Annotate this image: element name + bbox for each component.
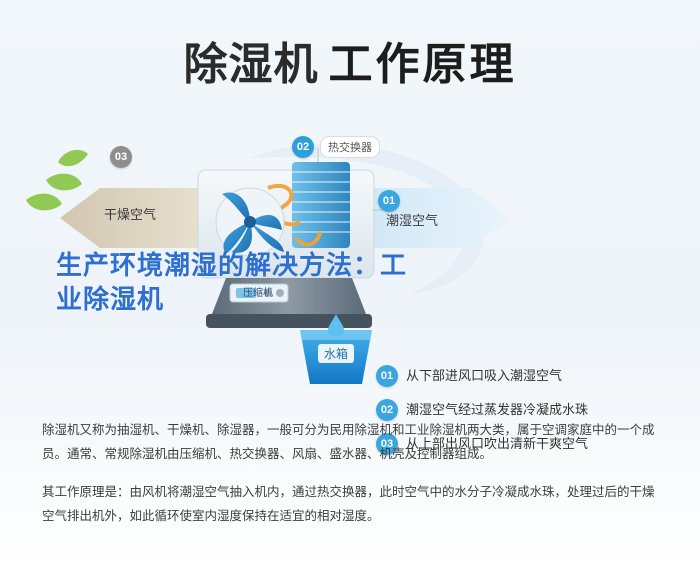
diagram-badge-02: 02 <box>292 136 314 158</box>
body-copy: 除湿机又称为抽湿机、干燥机、除湿器，一般可分为民用除湿机和工业除湿机两大类，属于… <box>42 418 658 528</box>
page-title-part2: 工作原理 <box>329 39 517 90</box>
page-title-part1: 除湿机 <box>184 39 319 90</box>
dehumidifier-diagram: 03 02 01 干燥空气 潮湿空气 热交换器 压缩机 水箱 01 从下部进风口… <box>0 118 700 398</box>
step-item: 01 从下部进风口吸入潮湿空气 <box>376 364 696 398</box>
diagram-badge-01: 01 <box>378 190 400 212</box>
page-root: 除湿机工作原理 <box>0 0 700 566</box>
body-paragraph-2: 其工作原理是：由风机将潮湿空气抽入机内，通过热交换器，此时空气中的水分子冷凝成水… <box>42 480 658 528</box>
step-text: 从下部进风口吸入潮湿空气 <box>406 364 562 388</box>
body-paragraph-1: 除湿机又称为抽湿机、干燥机、除湿器，一般可分为民用除湿机和工业除湿机两大类，属于… <box>42 418 658 466</box>
label-compressor: 压缩机 <box>236 282 280 301</box>
diagram-badge-03: 03 <box>110 146 132 168</box>
label-humid-air: 潮湿空气 <box>386 210 438 229</box>
label-water-tank: 水箱 <box>318 344 354 363</box>
step-badge: 01 <box>376 365 398 387</box>
label-heat-exchanger: 热交换器 <box>320 136 380 158</box>
label-dry-air: 干燥空气 <box>104 204 156 223</box>
page-title: 除湿机工作原理 <box>0 28 700 92</box>
